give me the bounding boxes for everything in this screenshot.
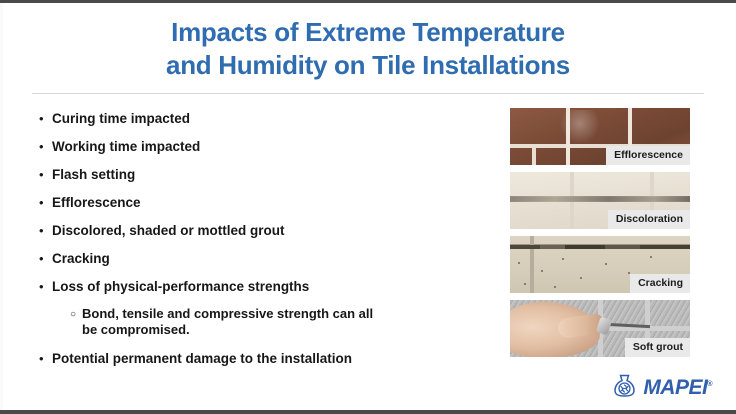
aggregate-speck bbox=[524, 283, 526, 285]
bullet-marker-icon: • bbox=[36, 110, 52, 127]
mapei-trademark-symbol: ® bbox=[707, 381, 712, 388]
list-item-label: Potential permanent damage to the instal… bbox=[52, 350, 352, 367]
list-item: • Cracking bbox=[36, 250, 486, 267]
list-item-label: Flash setting bbox=[52, 166, 135, 183]
list-item-label: Working time impacted bbox=[52, 138, 200, 155]
bullet-marker-icon: • bbox=[36, 278, 52, 295]
sub-list-item: ○ Bond, tensile and compressive strength… bbox=[66, 306, 486, 338]
mapei-wordmark-text: MAPEI bbox=[643, 376, 707, 399]
bullet-marker-icon: • bbox=[36, 350, 52, 367]
list-item-label: Cracking bbox=[52, 250, 110, 267]
photo-panel-efflorescence: Efflorescence bbox=[510, 108, 690, 165]
photo-caption: Discoloration bbox=[608, 210, 690, 229]
grout-scratch-mark bbox=[606, 323, 650, 328]
bullet-marker-icon: • bbox=[36, 222, 52, 239]
aggregate-speck bbox=[541, 270, 543, 272]
aggregate-speck bbox=[650, 256, 652, 258]
list-item-label: Curing time impacted bbox=[52, 110, 190, 127]
list-item: • Flash setting bbox=[36, 166, 486, 183]
photo-caption: Soft grout bbox=[625, 338, 690, 357]
bullet-marker-icon: • bbox=[36, 166, 52, 183]
photo-caption: Efflorescence bbox=[606, 146, 690, 165]
efflorescence-bloom bbox=[560, 110, 600, 144]
aggregate-speck bbox=[554, 286, 556, 288]
photo-panel-discoloration: Discoloration bbox=[510, 172, 690, 229]
aggregate-speck bbox=[580, 277, 582, 279]
bullet-marker-icon: • bbox=[36, 138, 52, 155]
aggregate-speck bbox=[562, 258, 564, 260]
letterbox-bar-top bbox=[0, 0, 736, 3]
mapei-wordmark: MAPEI® bbox=[643, 374, 712, 398]
bullet-list: • Curing time impacted • Working time im… bbox=[36, 110, 486, 378]
list-item: • Working time impacted bbox=[36, 138, 486, 155]
title-line-1: Impacts of Extreme Temperature bbox=[0, 16, 736, 49]
sub-bullet-marker-icon: ○ bbox=[66, 306, 82, 324]
photo-caption: Cracking bbox=[630, 274, 690, 293]
title-divider bbox=[32, 93, 704, 94]
list-item-label: Efflorescence bbox=[52, 194, 141, 211]
mapei-logo: MAPEI® bbox=[612, 373, 712, 398]
aggregate-speck bbox=[605, 263, 607, 265]
list-item: • Curing time impacted bbox=[36, 110, 486, 127]
mapei-bag-icon bbox=[612, 373, 637, 398]
bullet-marker-icon: • bbox=[36, 194, 52, 211]
photo-panel-soft-grout: Soft grout bbox=[510, 300, 690, 357]
crack-line bbox=[510, 245, 690, 249]
list-item: • Loss of physical-performance strengths bbox=[36, 278, 486, 295]
bullet-marker-icon: • bbox=[36, 250, 52, 267]
sub-list-item-label: Bond, tensile and compressive strength c… bbox=[82, 306, 382, 338]
list-item: • Efflorescence bbox=[36, 194, 486, 211]
slide-canvas: Impacts of Extreme Temperature and Humid… bbox=[0, 0, 736, 414]
page-title: Impacts of Extreme Temperature and Humid… bbox=[0, 16, 736, 82]
photo-panel-cracking: Cracking bbox=[510, 236, 690, 293]
letterbox-bar-bottom bbox=[0, 410, 736, 414]
title-line-2: and Humidity on Tile Installations bbox=[0, 49, 736, 82]
photo-panel-group: Efflorescence Discoloration Cr bbox=[510, 108, 690, 364]
list-item: • Discolored, shaded or mottled grout bbox=[36, 222, 486, 239]
aggregate-speck bbox=[518, 262, 520, 264]
list-item-label: Loss of physical-performance strengths bbox=[52, 278, 309, 295]
list-item: • Potential permanent damage to the inst… bbox=[36, 350, 486, 367]
discoloration-streak bbox=[510, 196, 690, 202]
list-item-label: Discolored, shaded or mottled grout bbox=[52, 222, 285, 239]
